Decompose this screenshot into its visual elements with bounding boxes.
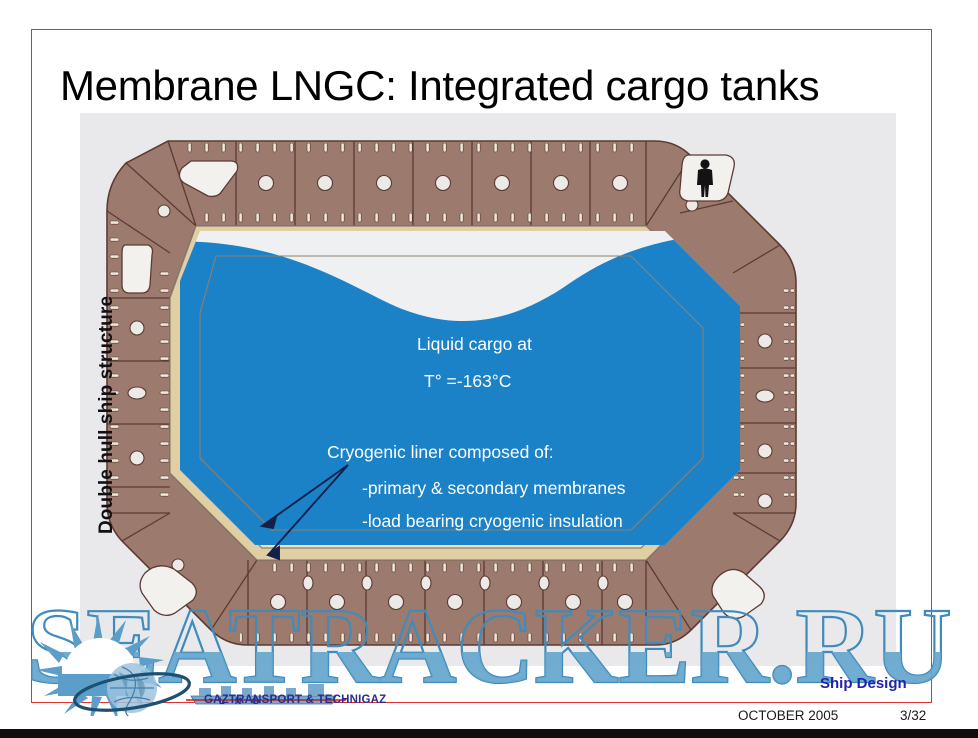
label-cargo-temperature: T° =-163°C: [424, 371, 511, 392]
logo-company-name: GAZTRANSPORT & TECHNIGAZ: [204, 694, 386, 706]
page-title: Membrane LNGC: Integrated cargo tanks: [60, 62, 920, 110]
footer-date: OCTOBER 2005: [738, 708, 838, 723]
double-hull-caption: Double hull ship structure: [96, 290, 118, 540]
label-cryogenic-liner-title: Cryogenic liner composed of:: [327, 442, 554, 463]
label-liner-bullet-insulation: -load bearing cryogenic insulation: [362, 511, 623, 532]
ship-design-brand: Ship Design: [820, 675, 907, 692]
label-liquid-cargo: Liquid cargo at: [417, 334, 532, 355]
bottom-dark-band: [0, 729, 978, 738]
label-liner-bullet-membranes: -primary & secondary membranes: [362, 478, 626, 499]
footer-page-number: 3/32: [900, 708, 926, 723]
